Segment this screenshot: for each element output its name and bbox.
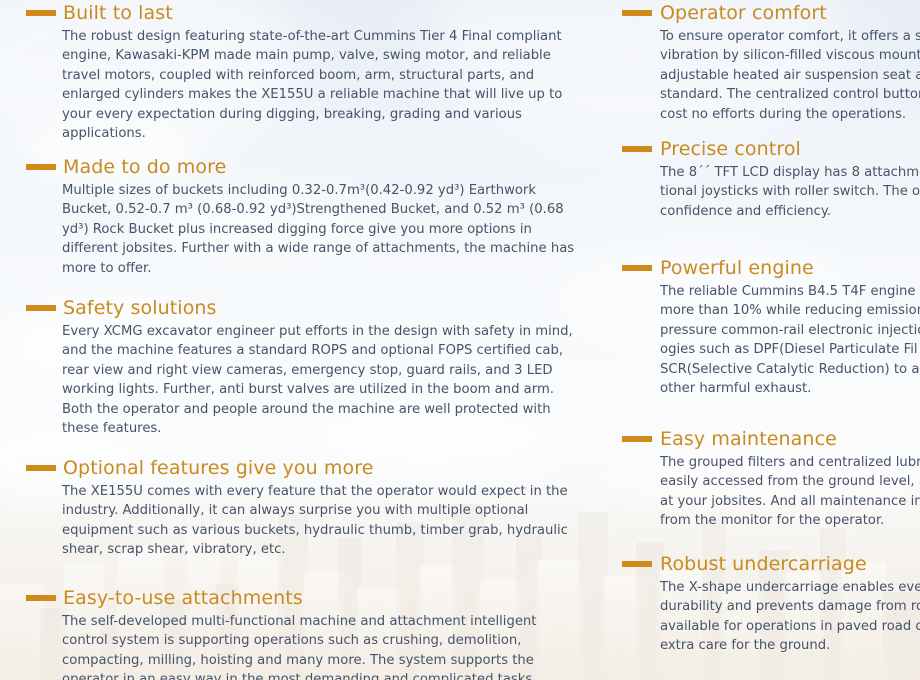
feature-heading: Easy maintenance [660, 428, 837, 450]
feature-body-line: ogies such as DPF(Diesel Particulate Fil [660, 340, 920, 359]
feature-body-line: adjustable heated air suspension seat an [660, 66, 920, 85]
feature-powerful-engine: Powerful engine The reliable Cummins B4.… [622, 257, 920, 398]
feature-body-line: The reliable Cummins B4.5 T4F engine [660, 282, 920, 301]
feature-body: Multiple sizes of buckets including 0.32… [62, 181, 586, 278]
feature-heading: Operator comfort [660, 2, 827, 24]
dash-marker-icon [26, 305, 56, 311]
feature-heading: Safety solutions [63, 297, 217, 319]
feature-body-line: vibration by silicon-filled viscous moun… [660, 46, 920, 65]
dash-marker-icon [26, 10, 56, 16]
dash-marker-icon [622, 561, 652, 567]
feature-made-to-do-more: Made to do more Multiple sizes of bucket… [26, 156, 586, 278]
feature-heading: Powerful engine [660, 257, 814, 279]
feature-body: The grouped filters and centralized lubr… [660, 453, 920, 531]
feature-body: The self-developed multi-functional mach… [62, 612, 586, 680]
feature-body-line: The X-shape undercarriage enables even [660, 578, 920, 597]
feature-body-line: tional joysticks with roller switch. The… [660, 182, 920, 201]
feature-body-line: The 8´´ TFT LCD display has 8 attachmen [660, 163, 920, 182]
feature-heading-row: Powerful engine [622, 257, 920, 279]
feature-body-line: pressure common-rail electronic injectio [660, 321, 920, 340]
feature-easy-maintenance: Easy maintenance The grouped filters and… [622, 428, 920, 531]
dash-marker-icon [622, 436, 652, 442]
feature-body: The XE155U comes with every feature that… [62, 482, 586, 560]
dash-marker-icon [26, 595, 56, 601]
feature-body: The robust design featuring state-of-the… [62, 27, 586, 143]
feature-body-line: extra care for the ground. [660, 636, 920, 655]
feature-heading-row: Safety solutions [26, 297, 586, 319]
feature-body-line: easily accessed from the ground level, m [660, 472, 920, 491]
feature-heading: Built to last [63, 2, 173, 24]
feature-body-line: SCR(Selective Catalytic Reduction) to ac… [660, 360, 920, 379]
dash-marker-icon [26, 164, 56, 170]
feature-operator-comfort: Operator comfort To ensure operator comf… [622, 2, 920, 124]
dash-marker-icon [622, 10, 652, 16]
feature-body-line: more than 10% while reducing emission [660, 301, 920, 320]
feature-optional-features: Optional features give you more The XE15… [26, 457, 586, 560]
feature-body-line: To ensure operator comfort, it offers a … [660, 27, 920, 46]
feature-heading-row: Optional features give you more [26, 457, 586, 479]
feature-body: The X-shape undercarriage enables even d… [660, 578, 920, 656]
feature-easy-to-use-attachments: Easy-to-use attachments The self-develop… [26, 587, 586, 680]
feature-heading: Optional features give you more [63, 457, 374, 479]
feature-heading: Robust undercarriage [660, 553, 867, 575]
feature-heading-row: Precise control [622, 138, 920, 160]
feature-heading-row: Built to last [26, 2, 586, 24]
feature-body-line: cost no efforts during the operations. [660, 105, 920, 124]
feature-built-to-last: Built to last The robust design featurin… [26, 2, 586, 143]
feature-body: Every XCMG excavator engineer put effort… [62, 322, 586, 438]
feature-robust-undercarriage: Robust undercarriage The X-shape underca… [622, 553, 920, 656]
feature-heading-row: Operator comfort [622, 2, 920, 24]
feature-body-line: standard. The centralized control button… [660, 85, 920, 104]
feature-heading-row: Easy maintenance [622, 428, 920, 450]
feature-body-line: confidence and efficiency. [660, 202, 920, 221]
dash-marker-icon [622, 265, 652, 271]
dash-marker-icon [26, 465, 56, 471]
feature-body: To ensure operator comfort, it offers a … [660, 27, 920, 124]
feature-heading-row: Easy-to-use attachments [26, 587, 586, 609]
feature-body-line: from the monitor for the operator. [660, 511, 920, 530]
feature-heading: Precise control [660, 138, 801, 160]
feature-heading: Easy-to-use attachments [63, 587, 303, 609]
feature-safety-solutions: Safety solutions Every XCMG excavator en… [26, 297, 586, 438]
feature-body-line: The grouped filters and centralized lubr… [660, 453, 920, 472]
feature-heading-row: Robust undercarriage [622, 553, 920, 575]
dash-marker-icon [622, 146, 652, 152]
feature-heading-row: Made to do more [26, 156, 586, 178]
feature-highlights-page: Built to last The robust design featurin… [0, 0, 920, 680]
feature-precise-control: Precise control The 8´´ TFT LCD display … [622, 138, 920, 221]
feature-body-line: at your jobsites. And all maintenance in… [660, 492, 920, 511]
feature-body-line: durability and prevents damage from ro [660, 597, 920, 616]
feature-body-line: available for operations in paved road c [660, 617, 920, 636]
feature-body: The reliable Cummins B4.5 T4F engine mor… [660, 282, 920, 398]
feature-body: The 8´´ TFT LCD display has 8 attachmen … [660, 163, 920, 221]
feature-heading: Made to do more [63, 156, 226, 178]
feature-body-line: other harmful exhaust. [660, 379, 920, 398]
